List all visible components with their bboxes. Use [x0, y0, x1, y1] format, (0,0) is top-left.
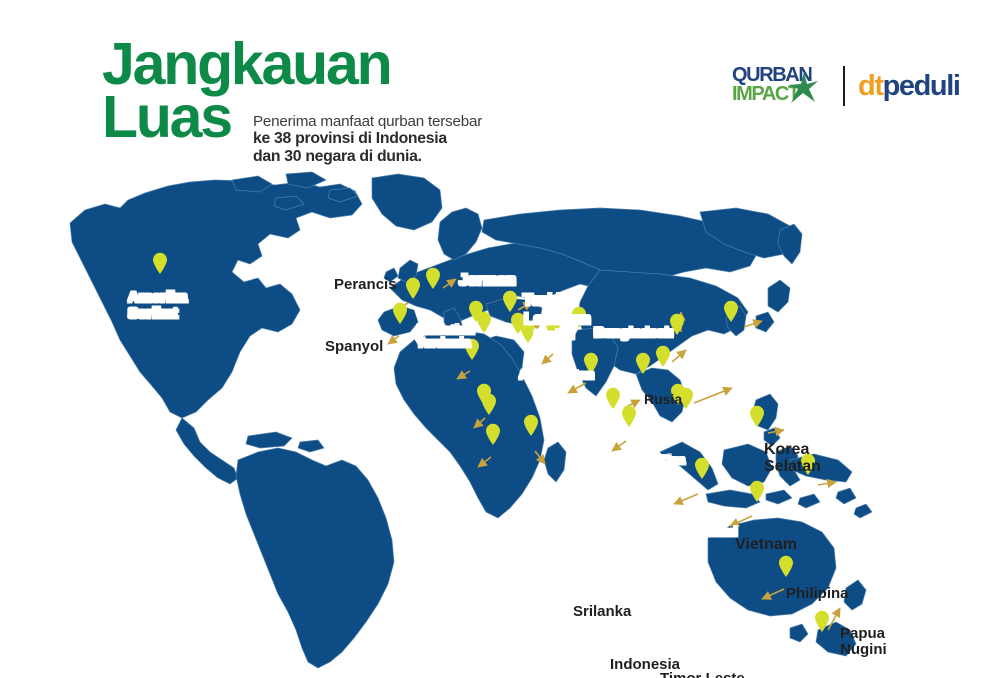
map-label-bangladesh: Bangladesh	[594, 325, 673, 340]
logo-divider	[843, 66, 845, 106]
location-pin-icon	[523, 414, 539, 436]
location-pin-icon	[749, 480, 765, 502]
map-label-yordania: Yordania	[416, 336, 471, 350]
logo-area: QURBAN IMPACT dtpeduli	[732, 60, 960, 112]
map-label-somalia: Somalia	[528, 628, 589, 645]
map-label-srilanka: Srilanka	[573, 604, 631, 620]
location-pin-icon	[655, 345, 671, 367]
location-pin-icon	[723, 300, 739, 322]
map-label-papua-nugini: PapuaNugini	[840, 626, 887, 658]
arrow-papua-nugini	[818, 482, 836, 485]
map-label-korea-selatan: KoreaSelatan	[764, 442, 821, 476]
map-label-amerika-serikat: AmerikaSerikat	[128, 290, 187, 322]
arrow-thailand	[672, 350, 686, 362]
map-pin-rusia[interactable]	[605, 387, 621, 409]
map-pin-philipina[interactable]	[749, 405, 765, 427]
map-pin-timor-leste[interactable]	[749, 480, 765, 502]
map-label-turki: Turki	[523, 293, 561, 310]
map-pin-sudan[interactable]	[476, 383, 492, 405]
map-pin-korea-selatan[interactable]	[723, 300, 739, 322]
map-label-thailand: Thailand	[684, 525, 737, 539]
map-pin-thailand[interactable]	[655, 345, 671, 367]
map-label-myanmar: Myanmar	[625, 534, 686, 549]
qurban-impact-logo: QURBAN IMPACT	[732, 62, 830, 110]
map-label-afghanistan: Afghanistan	[519, 368, 594, 382]
map-pin-myanmar[interactable]	[635, 352, 651, 374]
map-label-yaman: Yaman	[481, 579, 523, 593]
map-label-rusia: Rusia	[644, 392, 682, 407]
arrow-vietnam	[694, 388, 732, 403]
map-label-perancis: Perancis	[334, 277, 397, 293]
subtitle-bold-1: ke 38 provinsi di Indonesia	[253, 130, 553, 148]
arrow-mesir	[457, 371, 470, 379]
location-pin-icon	[778, 555, 794, 577]
location-pin-icon	[392, 302, 408, 324]
map-pin-yordania[interactable]	[476, 311, 492, 333]
map-pin-turki[interactable]	[502, 290, 518, 312]
map-label-philipina: Philipina	[786, 586, 849, 602]
map-label-sudan: Sudan	[430, 590, 479, 607]
map-pin-amerika-serikat[interactable]	[152, 252, 168, 274]
arrow-australia	[762, 589, 784, 599]
world-map: AmerikaSerikatPerancisJermanSpanyolPales…	[0, 160, 1000, 678]
subtitle: Penerima manfaat qurban tersebar ke 38 p…	[253, 113, 553, 166]
map-pin-somalia[interactable]	[523, 414, 539, 436]
location-pin-icon	[694, 457, 710, 479]
location-pin-icon	[152, 252, 168, 274]
arrow-spanyol	[388, 336, 399, 344]
location-pin-icon	[485, 423, 501, 445]
map-label-mesir: Mesir	[429, 544, 471, 561]
map-pin-spanyol[interactable]	[392, 302, 408, 324]
dt-suffix: peduli	[883, 70, 960, 102]
map-label-vietnam: Vietnam	[735, 537, 797, 554]
location-pin-icon	[476, 311, 492, 333]
location-pin-icon	[405, 277, 421, 299]
map-label-uganda: Uganda	[443, 629, 491, 643]
arrow-uganda	[478, 457, 491, 467]
arrow-philipina	[768, 430, 784, 433]
infographic-root: Jangkauan Luas Penerima manfaat qurban t…	[0, 0, 1000, 678]
arrow-jerman	[443, 279, 456, 288]
map-label-suriah: Suriah	[534, 328, 574, 342]
map-label-cina: Cina	[659, 454, 685, 467]
location-pin-icon	[621, 405, 637, 427]
arrow-somalia	[535, 451, 545, 464]
arrow-srilanka	[612, 441, 626, 451]
arrow-india	[568, 383, 586, 393]
map-pin-perancis[interactable]	[405, 277, 421, 299]
arrow-indonesia	[674, 494, 698, 504]
map-pin-indonesia[interactable]	[694, 457, 710, 479]
arrow-afghanistan	[542, 354, 553, 364]
location-pin-icon	[749, 405, 765, 427]
dt-prefix: dt	[858, 70, 883, 102]
map-label-timor-leste: Timor Leste	[660, 671, 745, 678]
dtpeduli-logo: dtpeduli	[858, 71, 960, 101]
arrow-korea-selatan	[744, 321, 762, 327]
location-pin-icon	[635, 352, 651, 374]
subtitle-regular: Penerima manfaat qurban tersebar	[253, 113, 553, 130]
location-pin-icon	[502, 290, 518, 312]
star-burst-icon	[788, 72, 818, 104]
map-pin-australia[interactable]	[778, 555, 794, 577]
arrow-sudan	[474, 418, 485, 428]
map-pin-jerman[interactable]	[425, 267, 441, 289]
location-pin-icon	[605, 387, 621, 409]
location-pin-icon	[814, 610, 830, 632]
arrow-layer	[0, 160, 1000, 678]
map-pin-new-zealand[interactable]	[814, 610, 830, 632]
map-label-kamboja: Kamboja	[623, 563, 682, 578]
location-pin-icon	[425, 267, 441, 289]
map-pin-uganda[interactable]	[485, 423, 501, 445]
location-pin-icon	[476, 383, 492, 405]
map-label-india: India	[564, 554, 604, 572]
map-pin-srilanka[interactable]	[621, 405, 637, 427]
map-label-spanyol: Spanyol	[325, 339, 383, 355]
map-label-jerman: Jerman	[459, 273, 516, 290]
